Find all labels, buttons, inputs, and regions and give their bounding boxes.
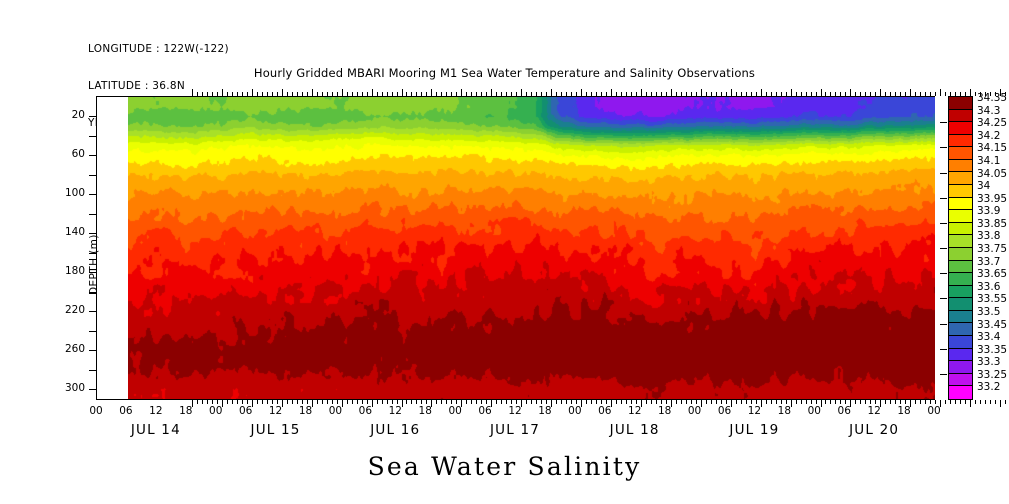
- x-axis-hour-label: 00: [201, 405, 231, 417]
- colorbar-band: [949, 336, 972, 349]
- x-axis-day-label: JUL 15: [221, 422, 331, 438]
- x-axis-minor-tick: [307, 92, 308, 96]
- x-axis-minor-tick: [501, 92, 502, 96]
- x-axis-minor-tick: [471, 400, 472, 404]
- x-axis-minor-tick: [352, 400, 353, 404]
- x-axis-minor-tick: [302, 92, 303, 96]
- y-axis-tick: [89, 253, 96, 254]
- colorbar-tick-label: 34.05: [977, 169, 1007, 179]
- x-axis-minor-tick: [362, 400, 363, 404]
- x-axis-hour-label: 06: [231, 405, 261, 417]
- x-axis-minor-tick: [950, 400, 951, 404]
- x-axis-minor-tick: [546, 400, 547, 404]
- x-axis-minor-tick: [456, 92, 457, 96]
- x-axis-minor-tick: [586, 400, 587, 404]
- x-axis-major-tick: [880, 89, 881, 96]
- x-axis-minor-tick: [661, 400, 662, 404]
- x-axis-minor-tick: [920, 92, 921, 96]
- x-axis-major-tick: [222, 89, 223, 96]
- colorbar-band: [949, 374, 972, 387]
- x-axis-major-tick: [850, 89, 851, 96]
- x-axis-hour-label: 12: [380, 405, 410, 417]
- x-axis-minor-tick: [421, 400, 422, 404]
- x-axis-minor-tick: [900, 92, 901, 96]
- colorbar-band: [949, 248, 972, 261]
- x-axis-minor-tick: [890, 92, 891, 96]
- x-axis-minor-tick: [307, 400, 308, 404]
- x-axis-hour-label: 18: [650, 405, 680, 417]
- colorbar-band: [949, 97, 972, 110]
- x-axis-minor-tick: [960, 400, 961, 404]
- x-axis-minor-tick: [506, 400, 507, 404]
- x-axis-minor-tick: [920, 400, 921, 404]
- x-axis-minor-tick: [696, 92, 697, 96]
- x-axis-minor-tick: [367, 92, 368, 96]
- x-axis-minor-tick: [616, 92, 617, 96]
- x-axis-minor-tick: [426, 92, 427, 96]
- x-axis-major-tick: [252, 89, 253, 96]
- x-axis-minor-tick: [915, 400, 916, 404]
- x-axis-minor-tick: [526, 400, 527, 404]
- y-axis-label: 260: [65, 343, 85, 355]
- x-axis-minor-tick: [801, 92, 802, 96]
- colorbar-tick-label: 33.2: [977, 382, 1000, 392]
- colorbar-band: [949, 273, 972, 286]
- colorbar-tick-label: 33.25: [977, 370, 1007, 380]
- colorbar-tick-label: 33.75: [977, 244, 1007, 254]
- x-axis-minor-tick: [411, 400, 412, 404]
- colorbar-band: [949, 235, 972, 248]
- x-axis-hour-label: 06: [350, 405, 380, 417]
- x-axis-minor-tick: [855, 400, 856, 404]
- x-axis-day-label: JUL 16: [340, 422, 450, 438]
- y-axis-tick: [89, 175, 96, 176]
- y-axis-tick: [89, 272, 96, 273]
- colorbar-tick: [940, 147, 947, 148]
- x-axis-hour-label: 06: [829, 405, 859, 417]
- x-axis-minor-tick: [451, 92, 452, 96]
- x-axis-minor-tick: [292, 92, 293, 96]
- x-axis-minor-tick: [796, 400, 797, 404]
- x-axis-minor-tick: [860, 400, 861, 404]
- x-axis-major-tick: [611, 89, 612, 96]
- x-axis-major-tick: [970, 89, 971, 96]
- x-axis-minor-tick: [501, 400, 502, 404]
- x-axis-minor-tick: [975, 92, 976, 96]
- x-axis-hour-label: 12: [261, 405, 291, 417]
- x-axis-minor-tick: [621, 92, 622, 96]
- y-axis-tick: [89, 214, 96, 215]
- x-axis-hour-label: 00: [919, 405, 949, 417]
- x-axis-minor-tick: [456, 400, 457, 404]
- colorbar-tick: [940, 349, 947, 350]
- x-axis-minor-tick: [596, 400, 597, 404]
- x-axis-minor-tick: [905, 400, 906, 404]
- x-axis-hour-label: 18: [291, 405, 321, 417]
- colorbar-tick: [940, 198, 947, 199]
- colorbar-band: [949, 323, 972, 336]
- x-axis-minor-tick: [621, 400, 622, 404]
- variable-title: Sea Water Salinity: [0, 452, 1009, 481]
- colorbar-tick-label: 33.35: [977, 345, 1007, 355]
- x-axis-minor-tick: [656, 400, 657, 404]
- x-axis-minor-tick: [217, 400, 218, 404]
- colorbar-band: [949, 261, 972, 274]
- x-axis-minor-tick: [387, 400, 388, 404]
- x-axis-minor-tick: [925, 92, 926, 96]
- x-axis-minor-tick: [367, 400, 368, 404]
- x-axis-minor-tick: [811, 400, 812, 404]
- x-axis-minor-tick: [451, 400, 452, 404]
- x-axis-minor-tick: [935, 400, 936, 404]
- x-axis-minor-tick: [471, 92, 472, 96]
- x-axis-minor-tick: [466, 92, 467, 96]
- x-axis-minor-tick: [646, 400, 647, 404]
- x-axis-minor-tick: [212, 92, 213, 96]
- x-axis-minor-tick: [736, 400, 737, 404]
- x-axis-minor-tick: [606, 92, 607, 96]
- x-axis-minor-tick: [541, 92, 542, 96]
- x-axis-minor-tick: [591, 92, 592, 96]
- x-axis-minor-tick: [317, 92, 318, 96]
- x-axis-minor-tick: [636, 400, 637, 404]
- x-axis-minor-tick: [392, 92, 393, 96]
- x-axis-minor-tick: [870, 400, 871, 404]
- x-axis-minor-tick: [586, 92, 587, 96]
- colorbar-tick-label: 34.15: [977, 143, 1007, 153]
- x-axis-minor-tick: [277, 400, 278, 404]
- x-axis-hour-label: 18: [530, 405, 560, 417]
- x-axis-minor-tick: [706, 92, 707, 96]
- x-axis-minor-tick: [661, 92, 662, 96]
- x-axis-major-tick: [791, 89, 792, 96]
- colorbar-band: [949, 198, 972, 211]
- x-axis-minor-tick: [237, 92, 238, 96]
- x-axis-minor-tick: [576, 400, 577, 404]
- x-axis-minor-tick: [347, 400, 348, 404]
- colorbar-band: [949, 311, 972, 324]
- x-axis-minor-tick: [481, 92, 482, 96]
- x-axis-minor-tick: [362, 92, 363, 96]
- colorbar-band: [949, 122, 972, 135]
- x-axis-minor-tick: [397, 400, 398, 404]
- y-axis-label: 100: [65, 187, 85, 199]
- x-axis-minor-tick: [875, 400, 876, 404]
- x-axis-major-tick: [282, 89, 283, 96]
- x-axis-minor-tick: [561, 92, 562, 96]
- x-axis-minor-tick: [302, 400, 303, 404]
- x-axis-minor-tick: [746, 400, 747, 404]
- x-axis-minor-tick: [865, 400, 866, 404]
- x-axis-minor-tick: [377, 400, 378, 404]
- x-axis-minor-tick: [721, 92, 722, 96]
- x-axis-minor-tick: [776, 92, 777, 96]
- x-axis-minor-tick: [506, 92, 507, 96]
- x-axis-minor-tick: [930, 92, 931, 96]
- colorbar-band: [949, 349, 972, 362]
- x-axis-minor-tick: [486, 92, 487, 96]
- x-axis-minor-tick: [895, 92, 896, 96]
- colorbar-band: [949, 210, 972, 223]
- chart-title: Hourly Gridded MBARI Mooring M1 Sea Wate…: [0, 66, 1009, 80]
- x-axis-minor-tick: [546, 92, 547, 96]
- x-axis-minor-tick: [706, 400, 707, 404]
- x-axis-major-tick: [641, 89, 642, 96]
- x-axis-minor-tick: [397, 92, 398, 96]
- colorbar-tick-label: 34: [977, 181, 990, 191]
- x-axis-minor-tick: [835, 400, 836, 404]
- x-axis-minor-tick: [556, 92, 557, 96]
- x-axis-minor-tick: [676, 400, 677, 404]
- x-axis-minor-tick: [651, 92, 652, 96]
- x-axis-minor-tick: [601, 92, 602, 96]
- x-axis-hour-label: 06: [710, 405, 740, 417]
- x-axis-minor-tick: [476, 400, 477, 404]
- x-axis-minor-tick: [681, 400, 682, 404]
- x-axis-minor-tick: [526, 92, 527, 96]
- x-axis-minor-tick: [741, 92, 742, 96]
- x-axis-minor-tick: [411, 92, 412, 96]
- x-axis-minor-tick: [536, 92, 537, 96]
- x-axis-minor-tick: [870, 92, 871, 96]
- x-axis-minor-tick: [511, 400, 512, 404]
- x-axis-major-tick: [402, 89, 403, 96]
- x-axis-minor-tick: [232, 400, 233, 404]
- y-axis-label: 60: [72, 148, 85, 160]
- x-axis-minor-tick: [845, 400, 846, 404]
- x-axis-hour-label: 06: [111, 405, 141, 417]
- x-axis-minor-tick: [242, 92, 243, 96]
- x-axis-major-tick: [970, 400, 971, 407]
- x-axis-minor-tick: [711, 92, 712, 96]
- x-axis-hour-label: 12: [859, 405, 889, 417]
- x-axis-minor-tick: [786, 400, 787, 404]
- colorbar-tick-label: 34.1: [977, 156, 1000, 166]
- x-axis-minor-tick: [676, 92, 677, 96]
- x-axis-minor-tick: [840, 400, 841, 404]
- x-axis-minor-tick: [446, 400, 447, 404]
- x-axis-minor-tick: [716, 92, 717, 96]
- y-axis-tick: [89, 233, 96, 234]
- x-axis-minor-tick: [436, 400, 437, 404]
- y-axis-title: DEPTH (m): [88, 234, 100, 295]
- x-axis-day-label: JUL 17: [460, 422, 570, 438]
- y-axis-tick: [89, 136, 96, 137]
- x-axis-minor-tick: [830, 400, 831, 404]
- x-axis-minor-tick: [357, 92, 358, 96]
- x-axis-major-tick: [1000, 400, 1001, 407]
- x-axis-minor-tick: [945, 92, 946, 96]
- colorbar-tick-label: 33.7: [977, 257, 1000, 267]
- x-axis-minor-tick: [446, 92, 447, 96]
- x-axis-minor-tick: [766, 400, 767, 404]
- x-axis-day-label: JUL 18: [580, 422, 690, 438]
- x-axis-hour-label: 12: [141, 405, 171, 417]
- x-axis-minor-tick: [811, 92, 812, 96]
- x-axis-minor-tick: [840, 92, 841, 96]
- x-axis-minor-tick: [496, 400, 497, 404]
- x-axis-minor-tick: [955, 400, 956, 404]
- x-axis-minor-tick: [885, 92, 886, 96]
- x-axis-minor-tick: [227, 92, 228, 96]
- x-axis-minor-tick: [796, 92, 797, 96]
- x-axis-hour-label: 12: [620, 405, 650, 417]
- x-axis-minor-tick: [890, 400, 891, 404]
- x-axis-minor-tick: [382, 92, 383, 96]
- x-axis-minor-tick: [776, 400, 777, 404]
- colorbar-band: [949, 160, 972, 173]
- x-axis-hour-label: 18: [769, 405, 799, 417]
- x-axis-minor-tick: [377, 92, 378, 96]
- x-axis-minor-tick: [691, 400, 692, 404]
- x-axis-minor-tick: [227, 400, 228, 404]
- x-axis-minor-tick: [835, 92, 836, 96]
- x-axis-minor-tick: [267, 400, 268, 404]
- x-axis-minor-tick: [626, 400, 627, 404]
- x-axis-minor-tick: [257, 400, 258, 404]
- colorbar-band: [949, 185, 972, 198]
- x-axis-minor-tick: [317, 400, 318, 404]
- x-axis-hour-label: 00: [680, 405, 710, 417]
- colorbar-tick-label: 34.25: [977, 118, 1007, 128]
- x-axis-minor-tick: [756, 400, 757, 404]
- colorbar-tick-label: 33.6: [977, 282, 1000, 292]
- contour-plot-area: DEPTH (m): [96, 96, 935, 400]
- x-axis-minor-tick: [696, 400, 697, 404]
- longitude-label: LONGITUDE : 122W(-122): [88, 43, 229, 55]
- x-axis-minor-tick: [232, 92, 233, 96]
- colorbar-band: [949, 286, 972, 299]
- x-axis-major-tick: [192, 89, 193, 96]
- x-axis-hour-label: 00: [440, 405, 470, 417]
- x-axis-major-tick: [821, 89, 822, 96]
- colorbar-band: [949, 298, 972, 311]
- x-axis-hour-label: 06: [470, 405, 500, 417]
- x-axis-minor-tick: [197, 92, 198, 96]
- x-axis-minor-tick: [601, 400, 602, 404]
- colorbar-tick: [940, 173, 947, 174]
- x-axis-minor-tick: [531, 400, 532, 404]
- x-axis-minor-tick: [736, 92, 737, 96]
- x-axis-minor-tick: [995, 400, 996, 404]
- colorbar-tick-label: 34.3: [977, 106, 1000, 116]
- colorbar-tick: [940, 273, 947, 274]
- x-axis-minor-tick: [337, 400, 338, 404]
- x-axis-minor-tick: [801, 400, 802, 404]
- x-axis-minor-tick: [746, 92, 747, 96]
- colorbar-tick-label: 33.85: [977, 219, 1007, 229]
- x-axis-minor-tick: [965, 400, 966, 404]
- x-axis-minor-tick: [327, 400, 328, 404]
- colorbar-tick-label: 33.45: [977, 320, 1007, 330]
- x-axis-minor-tick: [322, 400, 323, 404]
- x-axis-minor-tick: [855, 92, 856, 96]
- x-axis-minor-tick: [666, 400, 667, 404]
- x-axis-minor-tick: [212, 400, 213, 404]
- x-axis-hour-label: 00: [320, 405, 350, 417]
- x-axis-minor-tick: [436, 92, 437, 96]
- x-axis-minor-tick: [1005, 400, 1006, 404]
- colorbar-band: [949, 223, 972, 236]
- x-axis-major-tick: [372, 89, 373, 96]
- x-axis-minor-tick: [207, 400, 208, 404]
- x-axis-hour-label: 00: [799, 405, 829, 417]
- colorbar-band: [949, 172, 972, 185]
- y-axis-label: 140: [65, 226, 85, 238]
- x-axis-hour-label: 12: [739, 405, 769, 417]
- x-axis-major-tick: [551, 89, 552, 96]
- x-axis-minor-tick: [830, 92, 831, 96]
- x-axis-minor-tick: [352, 92, 353, 96]
- x-axis-major-tick: [491, 89, 492, 96]
- x-axis-minor-tick: [631, 400, 632, 404]
- x-axis-minor-tick: [516, 92, 517, 96]
- x-axis-minor-tick: [387, 92, 388, 96]
- colorbar-tick: [940, 248, 947, 249]
- colorbar-tick-label: 34.2: [977, 131, 1000, 141]
- x-axis-minor-tick: [781, 400, 782, 404]
- x-axis-ticks-top: [96, 89, 935, 96]
- colorbar-tick: [940, 374, 947, 375]
- x-axis-minor-tick: [406, 92, 407, 96]
- x-axis-major-tick: [521, 89, 522, 96]
- y-axis-tick: [89, 331, 96, 332]
- x-axis-minor-tick: [441, 400, 442, 404]
- x-axis-day-label: JUL 20: [819, 422, 929, 438]
- x-axis-hour-label: 06: [590, 405, 620, 417]
- x-axis-minor-tick: [631, 92, 632, 96]
- x-axis-minor-tick: [616, 400, 617, 404]
- colorbar-tick-label: 33.55: [977, 294, 1007, 304]
- x-axis-minor-tick: [481, 400, 482, 404]
- x-axis-major-tick: [461, 89, 462, 96]
- x-axis-minor-tick: [656, 92, 657, 96]
- x-axis-minor-tick: [806, 92, 807, 96]
- x-axis-minor-tick: [771, 400, 772, 404]
- x-axis-minor-tick: [511, 92, 512, 96]
- x-axis-minor-tick: [726, 92, 727, 96]
- x-axis-minor-tick: [636, 92, 637, 96]
- x-axis-minor-tick: [441, 92, 442, 96]
- x-axis-day-label: JUL 19: [699, 422, 809, 438]
- x-axis-minor-tick: [845, 92, 846, 96]
- x-axis-minor-tick: [651, 400, 652, 404]
- salinity-contour-canvas: [128, 97, 935, 399]
- x-axis-minor-tick: [816, 92, 817, 96]
- x-axis-minor-tick: [566, 92, 567, 96]
- x-axis-minor-tick: [865, 92, 866, 96]
- x-axis-minor-tick: [531, 92, 532, 96]
- x-axis-major-tick: [731, 89, 732, 96]
- y-axis-label: 20: [72, 109, 85, 121]
- colorbar-band: [949, 386, 972, 399]
- x-axis-minor-tick: [606, 400, 607, 404]
- x-axis-minor-tick: [766, 92, 767, 96]
- x-axis-minor-tick: [217, 92, 218, 96]
- y-axis-tick: [89, 155, 96, 156]
- x-axis-minor-tick: [267, 92, 268, 96]
- x-axis-minor-tick: [711, 400, 712, 404]
- x-axis-minor-tick: [382, 400, 383, 404]
- x-axis-minor-tick: [980, 400, 981, 404]
- x-axis-minor-tick: [771, 92, 772, 96]
- colorbar: [948, 96, 973, 400]
- x-axis-minor-tick: [257, 92, 258, 96]
- colorbar-band: [949, 147, 972, 160]
- x-axis-minor-tick: [262, 400, 263, 404]
- x-axis-minor-tick: [262, 92, 263, 96]
- x-axis-minor-tick: [277, 92, 278, 96]
